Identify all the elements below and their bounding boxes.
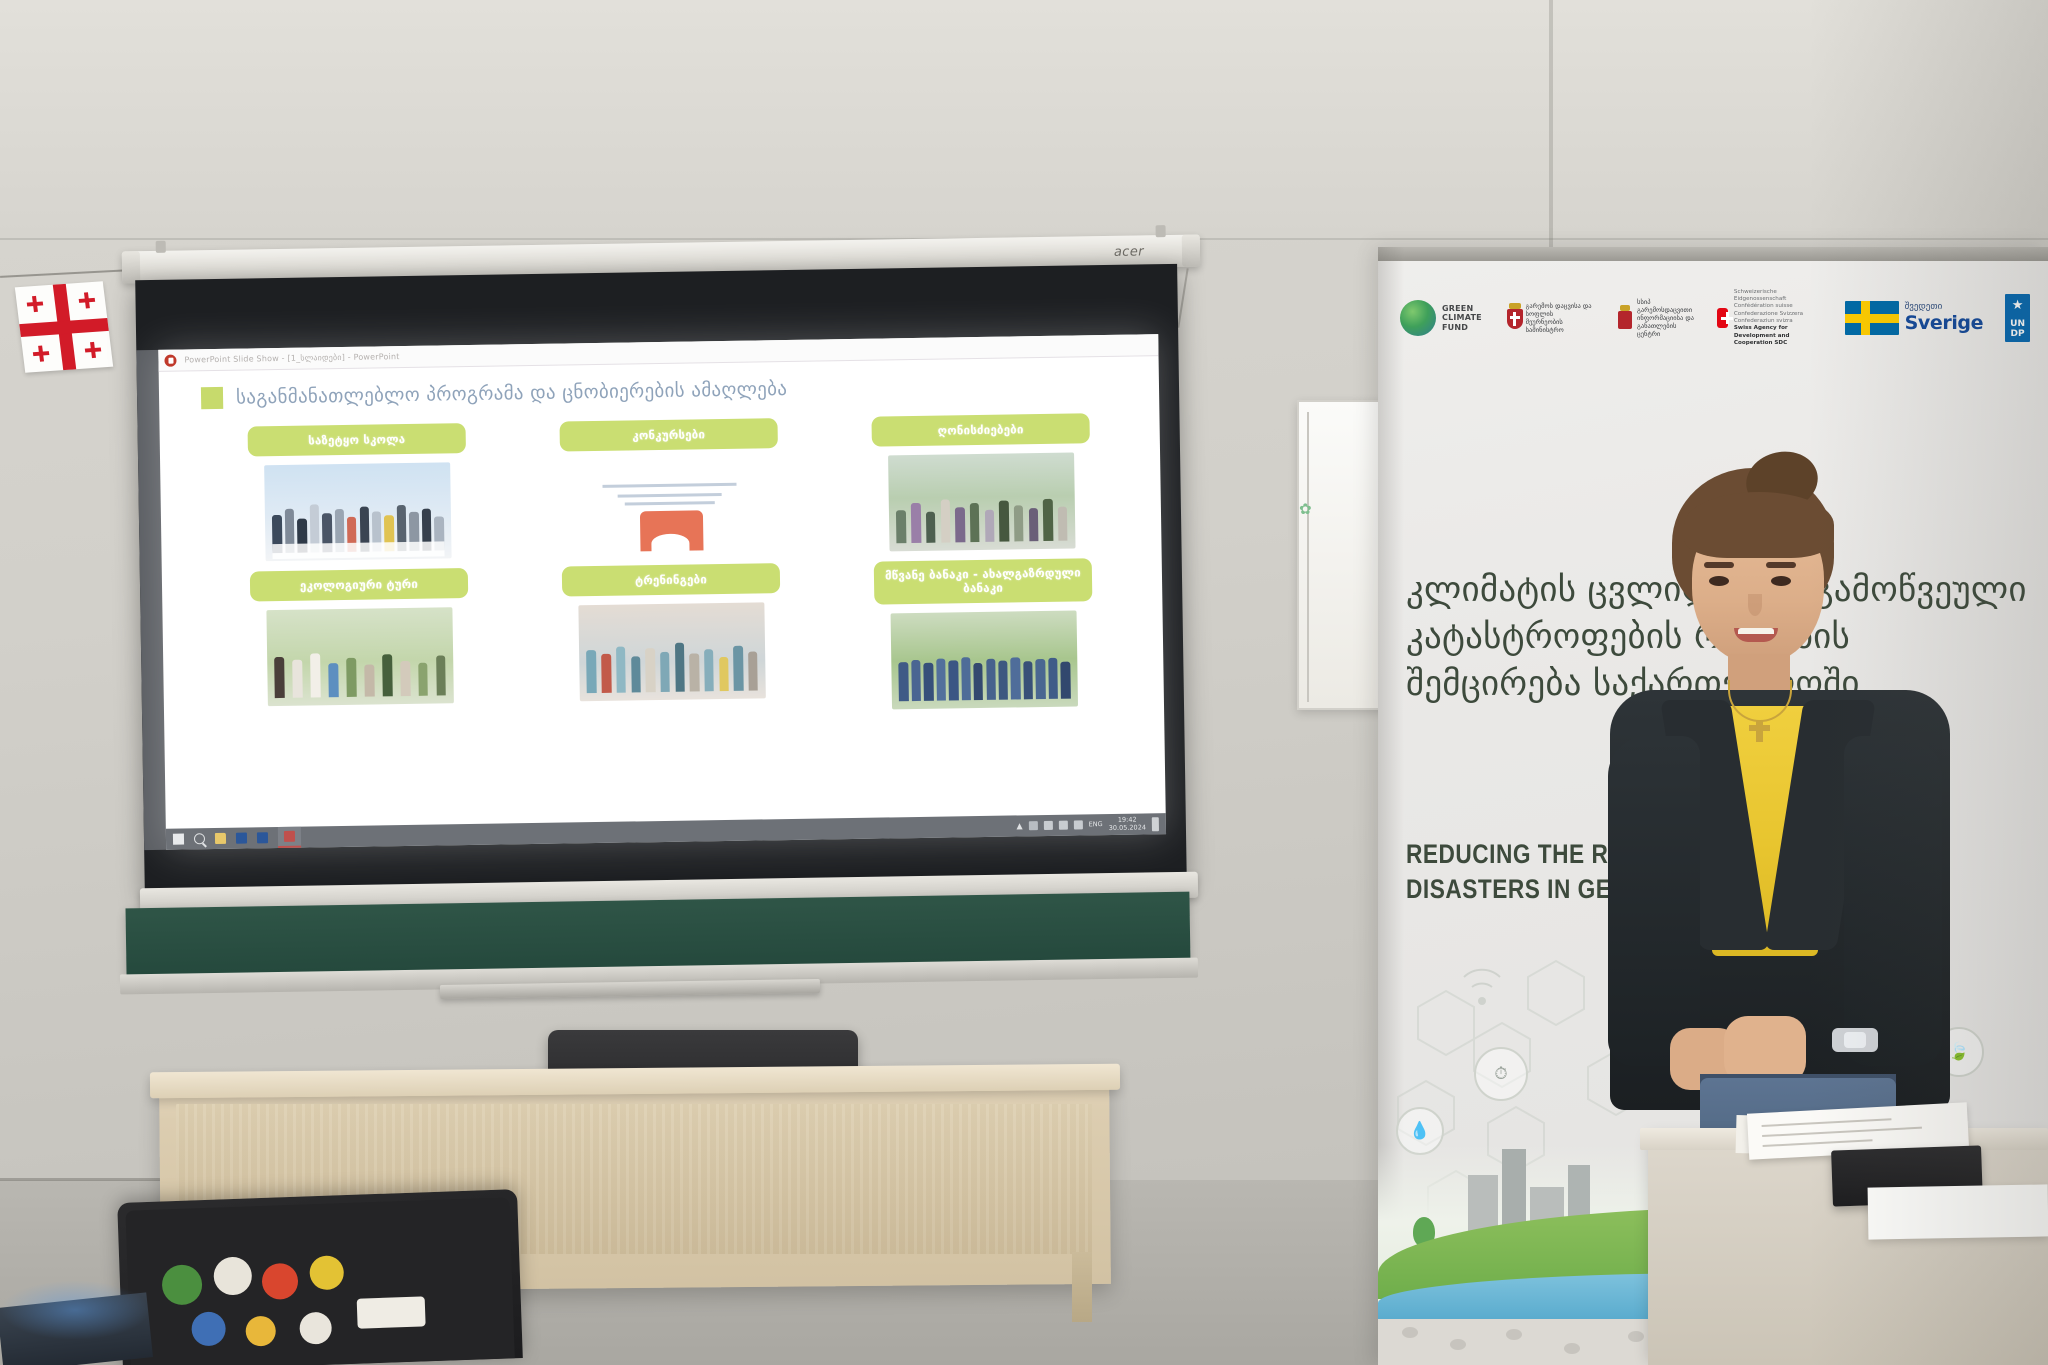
sticker-orange [245,1316,276,1347]
tray-language[interactable]: ENG [1089,821,1103,829]
wall-vignette [1808,0,2048,1365]
laptop-lid [125,1197,514,1365]
sdc-line-1: Schweizerische Eidgenossenschaft [1734,289,1786,302]
sticker-blue [191,1311,226,1346]
powerpoint-window-title: PowerPoint Slide Show - [1_სლაიდები] - P… [184,352,399,364]
agency-line-3: განათლების ცენტრი [1637,322,1676,338]
projected-powerpoint-window: PowerPoint Slide Show - [1_სლაიდები] - P… [158,334,1166,850]
ministry-label: გარემოს დაცვისა და სოფლის მეურნეობის სამ… [1526,302,1595,335]
georgian-flag [8,278,118,383]
classroom-scene: acer PowerPoint Slide Show - [1_სლაიდები… [0,0,2048,1365]
sdc-subtitle: Swiss Agency for Development and Coopera… [1734,325,1790,346]
slide-cell-photo [264,462,451,561]
slide-canvas: საგანმანათლებლო პროგრამა და ცნობიერების … [187,358,1156,843]
snow-foreground [273,541,444,559]
sdc-line-2: Confédération suisse [1734,303,1793,309]
poster-graphic-accent [652,533,689,553]
eye-right [1771,576,1791,586]
crowd-silhouettes [898,643,1070,701]
agency-line-2: ინფორმაციისა და [1637,314,1694,322]
acer-brand-label: acer [1114,244,1144,259]
show-desktop-button[interactable] [1152,817,1159,831]
slide-cell: ტრენინგები [524,563,820,715]
sticker-red [261,1263,298,1300]
ministry-line-1: გარემოს დაცვისა და სოფლის [1526,302,1592,318]
crowd-silhouettes [274,640,446,698]
sticker-covered-laptop[interactable] [117,1189,523,1365]
sticker-white [213,1256,252,1295]
slide-cell-label: ღონისძიებები [871,413,1089,446]
globe-icon [1400,300,1436,336]
slide-cell-photo [891,610,1078,709]
arm-left [1608,736,1700,1066]
housing-bracket-left [156,241,166,253]
gcf-label: GREEN CLIMATE FUND [1442,304,1482,332]
agency-label: სსიპ გარემოსდაცვითი ინფორმაციისა და განა… [1637,298,1695,339]
slide-bullet-square [201,387,223,409]
laptop-screen-glow [0,1280,150,1340]
agency-line-1: სსიპ გარემოსდაცვითი [1637,298,1692,314]
crest-icon-2 [1616,305,1631,331]
crowd-silhouettes [586,635,758,693]
green-climate-fund-logo: GREEN CLIMATE FUND [1400,300,1482,336]
crowd-silhouettes [896,485,1068,543]
housing-endcap-right [1182,235,1201,267]
powerpoint-icon [284,831,295,842]
wall-upper [0,0,2048,240]
slide-cell-label: ეკოლოგიური ტური [250,568,468,601]
sticker-yellow [309,1255,344,1290]
search-icon[interactable] [194,833,205,844]
taskbar-clock[interactable]: 19:42 30.05.2024 [1109,816,1146,832]
chevron-up-icon[interactable]: ▲ [1016,821,1022,830]
word-icon-2[interactable] [257,832,268,843]
start-icon[interactable] [173,834,184,845]
housing-bracket-right [1156,225,1166,237]
swiss-confederation-sdc-logo: Schweizerische Eidgenossenschaft Confédé… [1717,289,1822,347]
swiss-cross-icon [1717,308,1728,328]
gcf-line-3: FUND [1442,323,1468,332]
sdc-line-4: Confederaziun svizra [1734,318,1793,324]
slide-cell-label: კონკურსები [559,418,777,451]
slide-cell: ეკოლოგიური ტური [212,567,508,719]
slide-cell-photo [266,607,453,706]
network-icon[interactable] [1044,821,1053,830]
national-environment-agency-logo: სსიპ გარემოსდაცვითი ინფორმაციისა და განა… [1616,298,1695,339]
system-tray[interactable]: ▲ ENG 19:42 30.05.2024 [1016,816,1159,833]
slide-cell-photo [578,602,765,701]
gcf-line-2: CLIMATE [1442,313,1482,322]
projection-surface: PowerPoint Slide Show - [1_სლაიდები] - P… [135,264,1187,898]
slide-cell: ღონისძიებები [833,413,1129,553]
nose [1748,594,1762,616]
slide-cell-photo [888,452,1075,551]
sdc-line-3: Confederazione Svizzera [1734,311,1803,317]
volume-icon[interactable] [1074,820,1083,829]
eye-left [1709,576,1729,586]
onedrive-icon[interactable] [1029,821,1038,830]
housing-endcap-left [122,251,141,283]
word-icon[interactable] [236,833,247,844]
teeth [1738,628,1774,634]
slide-cell-label: საზეტყო სკოლა [248,423,466,456]
eyebrow-left [1704,562,1734,568]
slide-cell: მწვანე ბანაკი - ახალგაზრდული ბანაკი [836,558,1132,710]
slide-content-grid: საზეტყო სკოლა [187,394,1154,720]
battery-icon[interactable] [1059,821,1068,830]
desk-leg-right [1072,1252,1092,1322]
slide-cell-photo [576,457,763,556]
screen-pull-cord-secondary[interactable] [1177,268,1188,328]
georgia-ministry-environment-logo: გარემოს დაცვისა და სოფლის მეურნეობის სამ… [1504,302,1594,335]
crest-icon [1504,303,1520,333]
slide-cell: კონკურსები [521,418,817,558]
eyebrow-right [1766,562,1796,568]
slide-cell-label: ტრენინგები [562,563,780,596]
sticker-pale [299,1312,332,1345]
wall-hook-icon: ✿ [1299,500,1315,516]
speedometer-icon: ⏱ [1474,1047,1528,1101]
slide-cell-label: მწვანე ბანაკი - ახალგაზრდული ბანაკი [874,558,1093,604]
cross-pendant [1756,720,1763,742]
ministry-line-2: მეურნეობის სამინისტრო [1526,318,1564,334]
gcf-line-1: GREEN [1442,304,1473,313]
file-explorer-icon[interactable] [215,833,226,844]
powerpoint-icon [164,354,176,366]
sticker-rect [357,1296,426,1328]
taskbar-active-app[interactable] [278,827,301,848]
slide-cell: საზეტყო სკოლა [210,422,506,562]
whiteboard-edge [1307,412,1309,702]
clock-date: 30.05.2024 [1109,823,1146,832]
sticker-green [161,1264,202,1305]
